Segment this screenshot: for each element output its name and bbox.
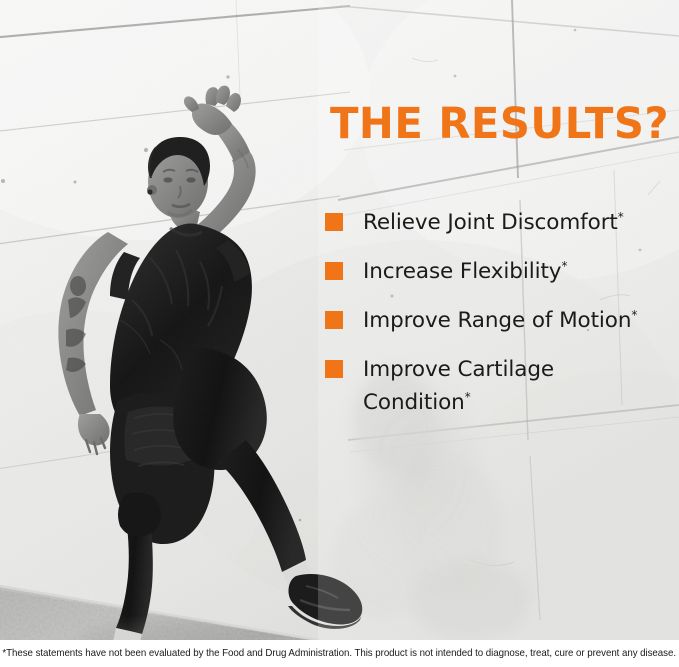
bullet-square-icon bbox=[325, 360, 343, 378]
footnote-marker: * bbox=[631, 308, 637, 322]
list-item: Increase Flexibility* bbox=[318, 256, 658, 289]
benefits-list: Relieve Joint Discomfort* Increase Flexi… bbox=[318, 207, 658, 435]
disclaimer-bar: *These statements have not been evaluate… bbox=[0, 640, 679, 667]
benefit-text: Increase Flexibility bbox=[363, 259, 561, 284]
copy-panel: THE RESULTS? Relieve Joint Discomfort* I… bbox=[318, 95, 668, 535]
benefit-text: Improve Cartilage Condition bbox=[363, 357, 554, 415]
list-item: Improve Cartilage Condition* bbox=[318, 354, 658, 420]
benefit-text: Relieve Joint Discomfort bbox=[363, 210, 618, 235]
page-title: THE RESULTS? bbox=[330, 103, 669, 146]
bullet-square-icon bbox=[325, 213, 343, 231]
list-item: Relieve Joint Discomfort* bbox=[318, 207, 658, 240]
list-item: Improve Range of Motion* bbox=[318, 305, 658, 338]
footnote-marker: * bbox=[618, 210, 624, 224]
footnote-marker: * bbox=[561, 259, 567, 273]
benefit-label: Improve Cartilage Condition* bbox=[363, 354, 658, 420]
bullet-square-icon bbox=[325, 262, 343, 280]
benefit-label: Improve Range of Motion* bbox=[363, 305, 658, 338]
footnote-marker: * bbox=[465, 389, 471, 403]
bullet-square-icon bbox=[325, 311, 343, 329]
benefit-label: Relieve Joint Discomfort* bbox=[363, 207, 658, 240]
disclaimer-text: *These statements have not been evaluate… bbox=[3, 648, 677, 659]
benefit-label: Increase Flexibility* bbox=[363, 256, 658, 289]
benefit-text: Improve Range of Motion bbox=[363, 308, 631, 333]
supplement-benefits-ad: THE RESULTS? Relieve Joint Discomfort* I… bbox=[0, 0, 679, 667]
